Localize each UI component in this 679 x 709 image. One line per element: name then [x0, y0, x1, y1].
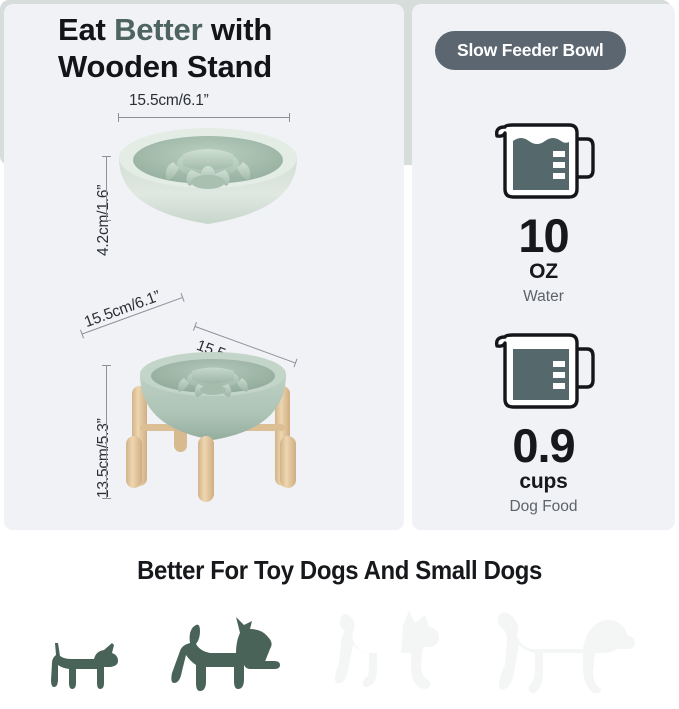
- headline-line1-pre: Eat: [58, 12, 114, 47]
- capacity-value: 10: [412, 212, 675, 259]
- dog-silhouette-terrier: [166, 611, 282, 697]
- capacity-dog-food: 0.9 cups Dog Food: [412, 322, 675, 519]
- measuring-jug-food-icon: [412, 322, 675, 414]
- bowl-width-label: 15.5cm/6.1”: [129, 92, 209, 110]
- bowl-width-dimension-line: [118, 113, 290, 122]
- headline-line2: Wooden Stand: [58, 49, 272, 84]
- bowl-height-dimension-line: [102, 156, 111, 221]
- page-title: Eat Better with Wooden Stand: [58, 12, 388, 85]
- capacity-unit: OZ: [412, 259, 675, 285]
- dog-size-comparison-row: [20, 592, 659, 697]
- banner-title: Better For Toy Dogs And Small Dogs: [27, 555, 652, 586]
- dog-silhouette-retriever: [491, 597, 637, 697]
- capacity-water: 10 OZ Water: [412, 112, 675, 309]
- capacity-unit: cups: [412, 469, 675, 495]
- elevated-bowl-stand-image: [118, 352, 308, 504]
- capacity-label: Water: [412, 285, 675, 308]
- stand-height-dimension-line: [102, 365, 111, 499]
- measuring-jug-water-icon: [412, 112, 675, 204]
- status-badge: Slow Feeder Bowl: [435, 31, 626, 70]
- slow-feeder-bowl-image: [113, 124, 303, 236]
- capacity-value: 0.9: [412, 422, 675, 469]
- capacity-label: Dog Food: [412, 495, 675, 518]
- headline-accent-word: Better: [114, 12, 202, 47]
- infographic-stage: Eat Better with Wooden Stand 15.5cm/6.1”…: [0, 0, 679, 709]
- dog-silhouette-chihuahua: [42, 639, 122, 697]
- dog-silhouette-shiba: [327, 603, 447, 697]
- headline-line1-post: with: [202, 12, 272, 47]
